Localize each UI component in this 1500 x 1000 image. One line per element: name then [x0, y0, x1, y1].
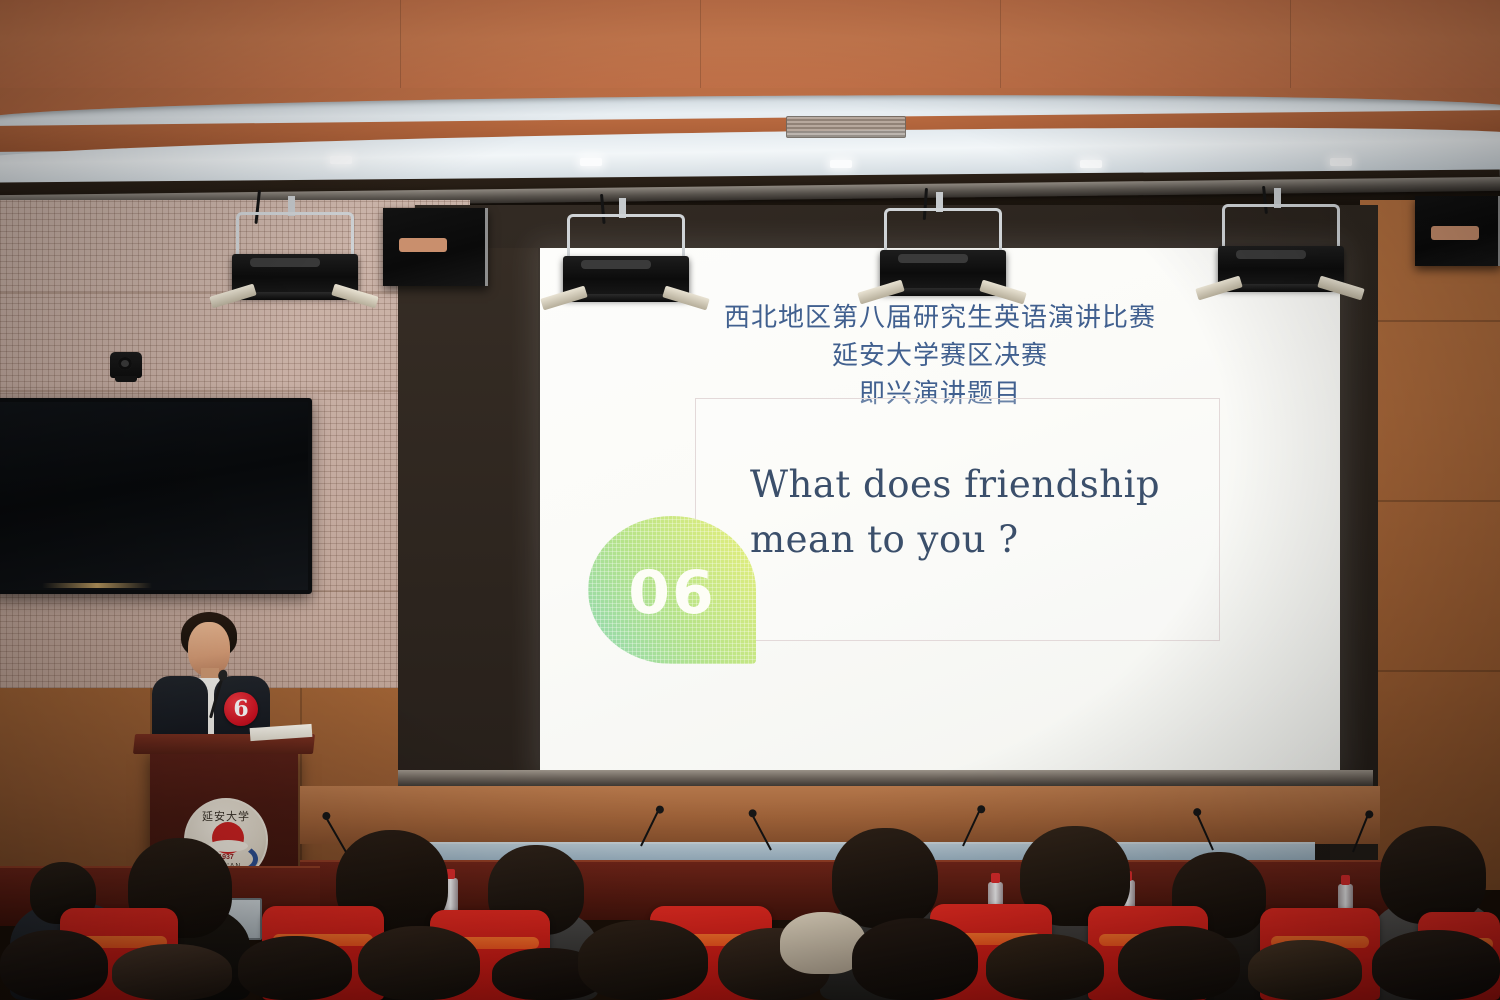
question-line-1: What does friendship [750, 458, 1220, 513]
loudspeaker [383, 208, 488, 286]
slide-number-badge: 06 [588, 516, 756, 664]
downlight [1330, 158, 1352, 166]
audience-head [1380, 826, 1486, 924]
ceiling-seam [1000, 0, 1001, 96]
auditorium-scene: 西北地区第八届研究生英语演讲比赛 延安大学赛区决赛 即兴演讲题目 What do… [0, 0, 1500, 1000]
wood-wall-right [1360, 200, 1500, 890]
wall-monitor [0, 398, 312, 594]
audience-head [986, 934, 1104, 1000]
audience-head [0, 930, 108, 1000]
downlight [580, 158, 602, 166]
contestant-number-badge: 6 [224, 692, 258, 726]
projection-screen: 西北地区第八届研究生英语演讲比赛 延安大学赛区决赛 即兴演讲题目 What do… [540, 248, 1340, 773]
question-line-2: mean to you ? [750, 513, 1220, 568]
slide-number-badge-label: 06 [628, 558, 716, 628]
slide-title-line-1: 西北地区第八届研究生英语演讲比赛 [540, 300, 1340, 338]
ceiling-seam [1290, 0, 1291, 96]
audience-head [578, 920, 708, 1000]
judges-desk-back-panel [300, 786, 1380, 844]
slide-title-line-2: 延安大学赛区决赛 [540, 338, 1340, 376]
ceiling-seam [700, 0, 701, 96]
audience-head [112, 944, 232, 1000]
downlight [1080, 160, 1102, 168]
audience-head [1118, 926, 1240, 1000]
slide-title-block: 西北地区第八届研究生英语演讲比赛 延安大学赛区决赛 即兴演讲题目 [540, 300, 1340, 414]
audience-head [238, 936, 352, 1000]
screen-bottom-trim [398, 770, 1373, 786]
audience-head [852, 918, 978, 1000]
audience-head [1248, 940, 1362, 1000]
audience-head [358, 926, 480, 1000]
air-vent-icon [786, 116, 906, 138]
audience-head [1372, 930, 1500, 1000]
downlight [330, 156, 352, 164]
downlight [830, 160, 852, 168]
ceiling-upper-panel [0, 0, 1500, 96]
ptz-camera-icon [110, 352, 142, 378]
loudspeaker [1415, 196, 1500, 266]
ceiling-seam [400, 0, 401, 96]
slide-question-text: What does friendship mean to you ? [750, 458, 1220, 568]
audience-head [832, 828, 938, 928]
